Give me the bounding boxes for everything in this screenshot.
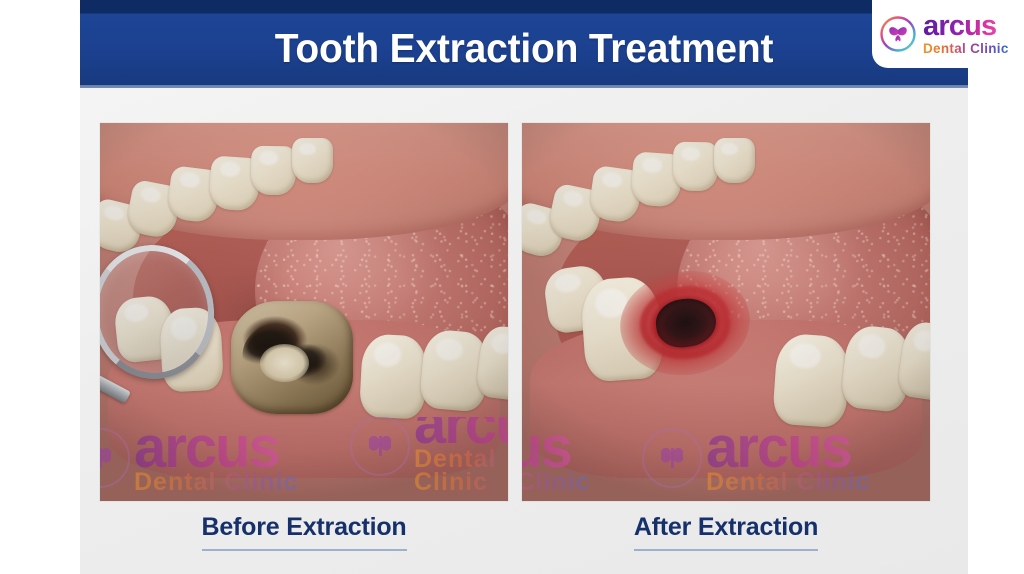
- brand-tagline: Dental Clinic: [923, 42, 1009, 56]
- extraction-socket: [636, 281, 735, 365]
- before-photo-artwork: arcus Dental Clinic arcus Dental Clinic: [100, 123, 508, 501]
- slide-header: Tooth Extraction Treatment: [80, 0, 968, 88]
- before-extraction-photo: arcus Dental Clinic arcus Dental Clinic: [100, 123, 508, 501]
- before-extraction-label: Before Extraction: [202, 513, 407, 551]
- decayed-molar: [231, 301, 353, 414]
- before-extraction-caption: Before Extraction: [100, 513, 508, 551]
- after-extraction-caption: After Extraction: [522, 513, 930, 551]
- after-extraction-label: After Extraction: [634, 513, 818, 551]
- after-extraction-photo: arcus Dental Clinic arcus Dental Clinic: [522, 123, 930, 501]
- after-photo-artwork: arcus Dental Clinic arcus Dental Clinic: [522, 123, 930, 501]
- arcus-butterfly-circle-icon: [878, 14, 918, 54]
- page-title: Tooth Extraction Treatment: [102, 24, 946, 72]
- dental-mirror-instrument: [100, 239, 221, 385]
- content-panel: arcus Dental Clinic arcus Dental Clinic: [80, 88, 968, 574]
- brand-logo[interactable]: arcus Dental Clinic: [872, 0, 1024, 68]
- slide-canvas: Tooth Extraction Treatment: [0, 0, 1024, 574]
- brand-logo-text: arcus Dental Clinic: [923, 12, 1009, 56]
- brand-name: arcus: [923, 12, 1009, 41]
